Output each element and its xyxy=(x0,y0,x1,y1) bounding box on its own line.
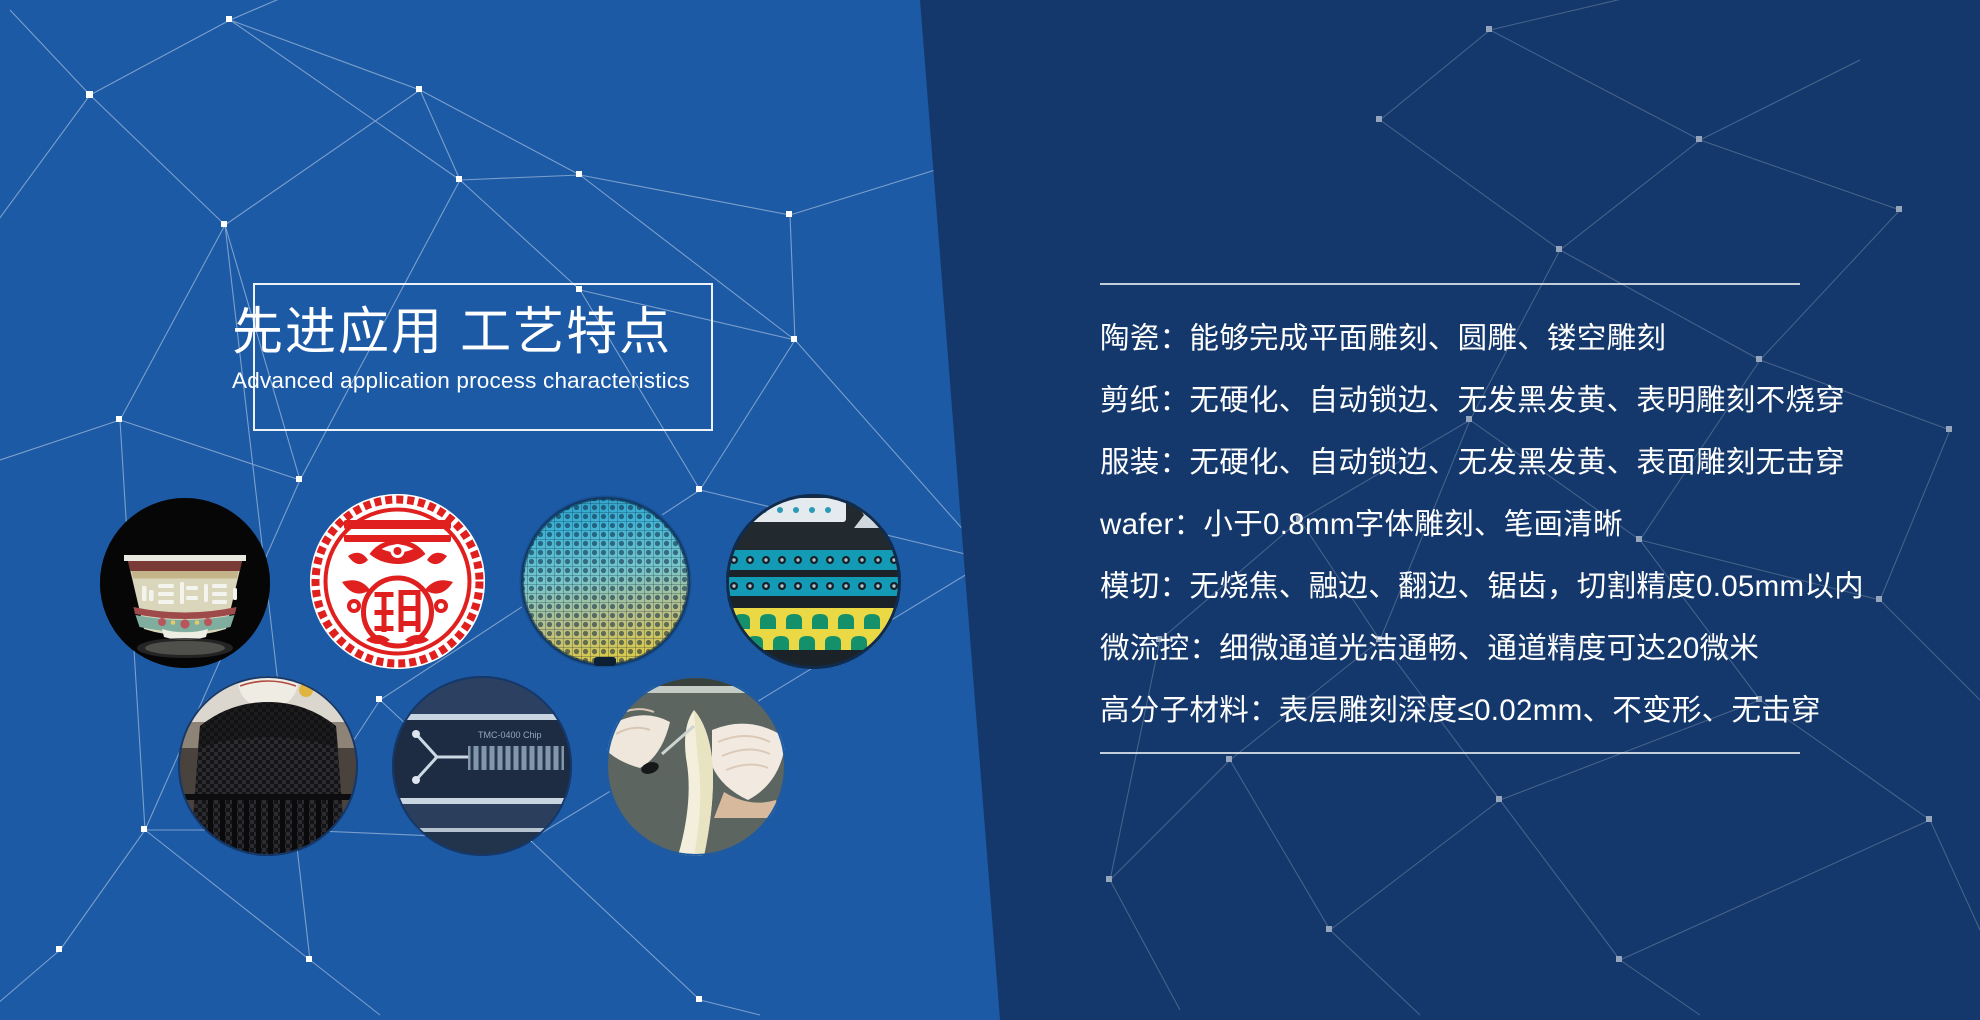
gallery-item-die-cut-sheet[interactable] xyxy=(726,494,901,669)
laser-cut-garment-image xyxy=(178,676,358,856)
page-subtitle: Advanced application process characteris… xyxy=(232,370,690,393)
feature-line-wafer: wafer：小于0.8mm字体雕刻、笔画清晰 xyxy=(1100,494,1920,556)
page-title: 先进应用 工艺特点 xyxy=(232,306,672,357)
slide-canvas: 先进应用 工艺特点 Advanced application process c… xyxy=(0,0,1980,1020)
gallery-item-polymer-film[interactable] xyxy=(606,676,786,856)
polymer-film-image xyxy=(606,676,786,856)
silicon-wafer-image xyxy=(518,494,693,669)
feature-line-microfluid: 微流控：细微通道光洁通畅、通道精度可达20微米 xyxy=(1100,618,1920,680)
gallery-item-laser-cut-garment[interactable] xyxy=(178,676,358,856)
gallery-item-silicon-wafer[interactable] xyxy=(518,494,693,669)
feature-line-apparel: 服装：无硬化、自动锁边、无发黑发黄、表面雕刻无击穿 xyxy=(1100,432,1920,494)
feature-line-polymer: 高分子材料：表层雕刻深度≤0.02mm、不变形、无击穿 xyxy=(1100,680,1920,742)
gallery-item-ceramic-bowl[interactable] xyxy=(100,498,270,668)
gallery-item-paper-cut-fu[interactable] xyxy=(310,494,485,669)
microfluidic-chip-image: TMC-0400 Chip xyxy=(392,676,572,856)
feature-list: 陶瓷：能够完成平面雕刻、圆雕、镂空雕刻 剪纸：无硬化、自动锁边、无发黑发黄、表明… xyxy=(1100,308,1920,742)
feature-line-ceramic: 陶瓷：能够完成平面雕刻、圆雕、镂空雕刻 xyxy=(1100,308,1920,370)
feature-line-papercut: 剪纸：无硬化、自动锁边、无发黑发黄、表明雕刻不烧穿 xyxy=(1100,370,1920,432)
feature-list-top-divider xyxy=(1100,283,1800,285)
paper-cut-image xyxy=(310,494,485,669)
die-cut-sheet-image xyxy=(726,494,901,669)
gallery-item-microfluidic-chip[interactable]: TMC-0400 Chip xyxy=(392,676,572,856)
ceramic-bowl-image xyxy=(100,498,270,668)
feature-line-die-cut: 模切：无烧焦、融边、翻边、锯齿，切割精度0.05mm以内 xyxy=(1100,556,1920,618)
chip-label-text: TMC-0400 Chip xyxy=(478,730,542,740)
feature-list-bottom-divider xyxy=(1100,752,1800,754)
